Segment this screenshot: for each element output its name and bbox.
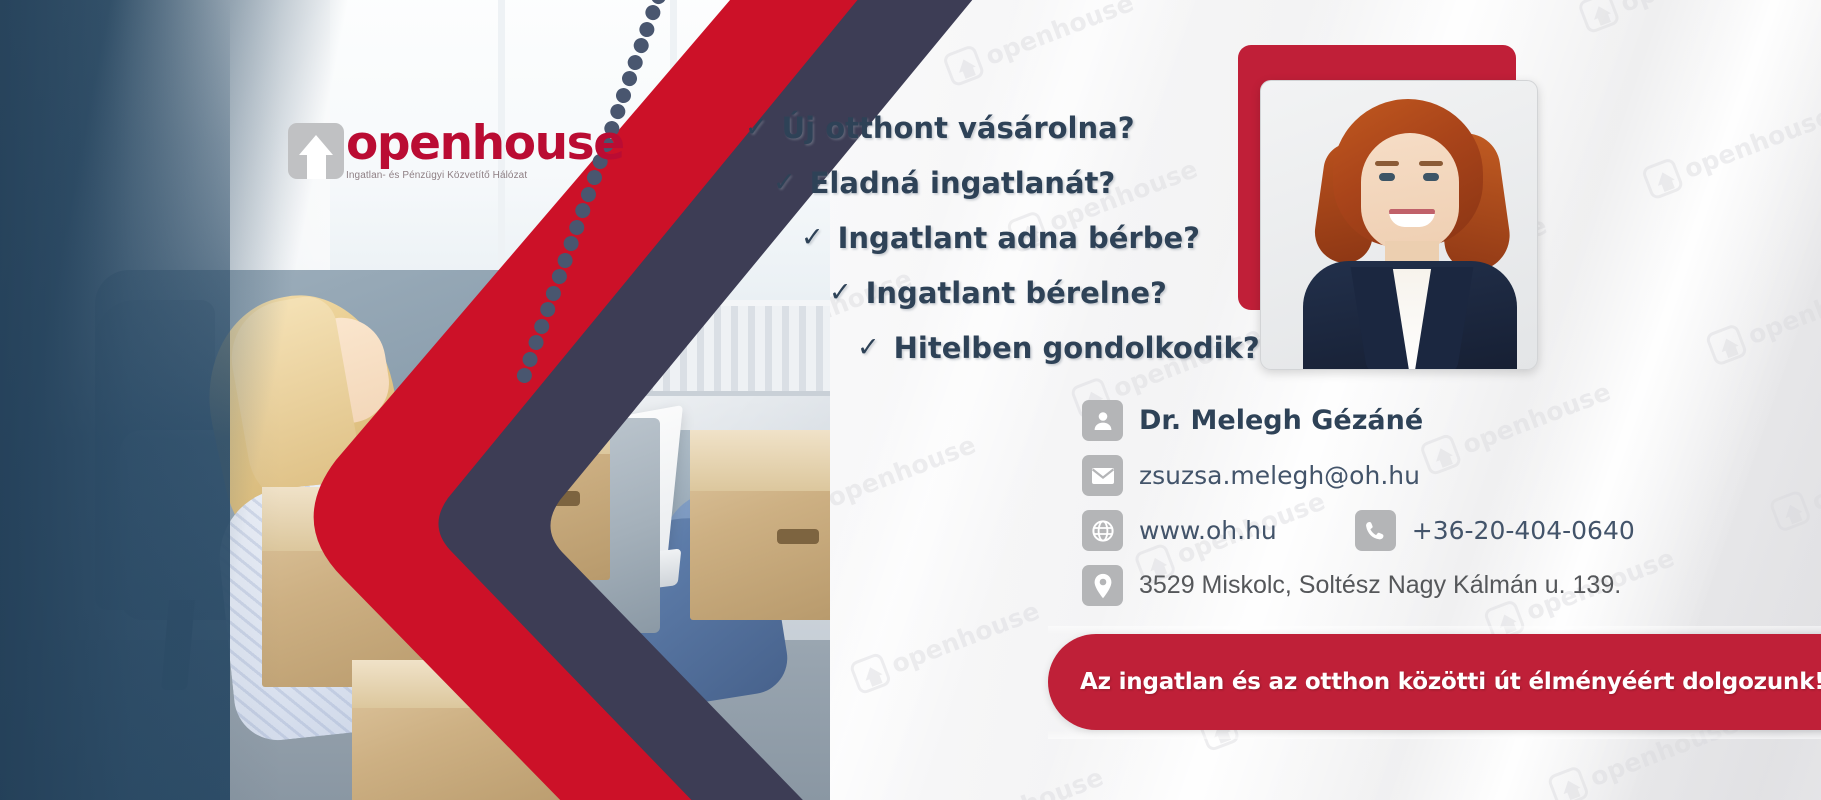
person-icon: [1082, 400, 1123, 441]
divider-dot: [562, 234, 581, 253]
checklist-item: ✓ Ingatlant adna bérbe?: [801, 210, 1305, 265]
agent-address: 3529 Miskolc, Soltész Nagy Kálmán u. 139…: [1139, 571, 1621, 600]
question-checklist: ✓ Új otthont vásárolna? ✓ Eladná ingatla…: [745, 100, 1305, 375]
house-icon: [288, 123, 344, 179]
globe-icon: [1082, 510, 1123, 551]
divider-dot: [620, 69, 639, 88]
divider-dot: [632, 36, 651, 55]
divider-dot: [526, 333, 545, 352]
contact-row-address: 3529 Miskolc, Soltész Nagy Kálmán u. 139…: [1082, 565, 1782, 606]
portrait-frame: [1260, 80, 1538, 370]
agent-name: Dr. Melegh Gézáné: [1139, 405, 1423, 436]
divider-dot: [521, 349, 540, 368]
banner-canvas: openhouseopenhouseopenhouseopenhouseopen…: [0, 0, 1821, 800]
check-icon: ✓: [857, 332, 880, 363]
divider-dot: [579, 184, 598, 203]
slogan-text: Az ingatlan és az otthon közötti út élmé…: [1080, 669, 1821, 695]
portrait-brow: [1419, 161, 1443, 166]
logo-wordmark: openhouse: [346, 120, 624, 168]
phone-icon: [1355, 510, 1396, 551]
divider-dot: [532, 316, 551, 335]
checklist-item: ✓ Eladná ingatlanát?: [773, 155, 1305, 210]
divider-dot: [538, 300, 557, 319]
divider-dot: [643, 3, 662, 22]
check-icon: ✓: [773, 167, 796, 198]
divider-dot: [544, 283, 563, 302]
divider-dot: [550, 267, 569, 286]
agent-website[interactable]: www.oh.hu: [1139, 516, 1277, 545]
portrait-eye: [1379, 173, 1395, 181]
checklist-item-label: Ingatlant adna bérbe?: [838, 221, 1200, 255]
checklist-item-label: Hitelben gondolkodik?: [894, 331, 1260, 365]
banner-highlight-bottom: [1048, 731, 1821, 739]
banner-highlight-top: [1048, 626, 1821, 634]
contact-block: Dr. Melegh Gézáné zsuzsa.melegh@oh.hu ww…: [1082, 400, 1782, 620]
contact-row-email[interactable]: zsuzsa.melegh@oh.hu: [1082, 455, 1782, 496]
portrait-smile: [1389, 209, 1435, 227]
checklist-item: ✓ Új otthont vásárolna?: [745, 100, 1305, 155]
checklist-item-label: Ingatlant bérelne?: [866, 276, 1167, 310]
portrait-brow: [1375, 161, 1399, 166]
checklist-item-label: Eladná ingatlanát?: [810, 166, 1116, 200]
divider-dot: [573, 201, 592, 220]
openhouse-logo: openhouse Ingatlan- és Pénzügyi Közvetít…: [288, 120, 624, 181]
agent-phone[interactable]: +36-20-404-0640: [1412, 516, 1635, 545]
checklist-item: ✓ Ingatlant bérelne?: [829, 265, 1305, 320]
check-icon: ✓: [745, 112, 768, 143]
map-pin-icon: [1082, 565, 1123, 606]
contact-row-name: Dr. Melegh Gézáné: [1082, 400, 1782, 441]
logo-tagline: Ingatlan- és Pénzügyi Közvetítő Hálózat: [346, 170, 624, 181]
agent-portrait: [1238, 45, 1528, 375]
checklist-item-label: Új otthont vásárolna?: [782, 111, 1135, 145]
divider-dot: [637, 19, 656, 38]
contact-row-web-phone: www.oh.hu +36-20-404-0640: [1082, 510, 1782, 551]
divider-dot: [567, 217, 586, 236]
envelope-icon: [1082, 455, 1123, 496]
check-icon: ✓: [829, 277, 852, 308]
divider-dot: [614, 85, 633, 104]
divider-dot: [626, 52, 645, 71]
slogan-banner: Az ingatlan és az otthon közötti út élmé…: [1048, 634, 1821, 730]
agent-email: zsuzsa.melegh@oh.hu: [1139, 461, 1420, 490]
portrait-eye: [1423, 173, 1439, 181]
portrait-face: [1361, 133, 1459, 251]
divider-dot: [556, 250, 575, 269]
check-icon: ✓: [801, 222, 824, 253]
